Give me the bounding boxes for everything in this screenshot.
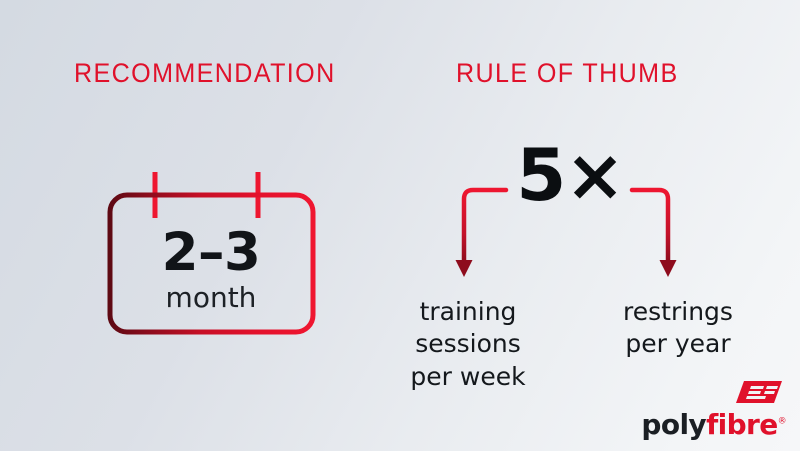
brand-word-poly: poly (641, 408, 706, 441)
infographic-slide: RECOMMENDATION RULE OF THUMB (0, 0, 800, 451)
leg-label-training: training sessions per week (386, 296, 550, 393)
polyfibre-pf-mark-icon (736, 381, 782, 403)
arrow-down-left-icon (456, 190, 507, 277)
leg-label-restrings: restrings per year (596, 296, 760, 361)
brand-word-fibre: fibre (706, 408, 778, 441)
calendar-icon (86, 160, 336, 350)
page-title-rule-of-thumb: RULE OF THUMB (456, 58, 679, 89)
brand-wordmark: polyfibre® (641, 411, 786, 439)
brand-logo: polyfibre® (660, 381, 786, 439)
arrow-connectors (440, 180, 720, 290)
calendar-illustration: 2–3 month (86, 160, 336, 350)
arrow-down-right-icon (632, 190, 677, 277)
registered-trademark-icon: ® (778, 417, 786, 427)
page-title-recommendation: RECOMMENDATION (74, 58, 336, 89)
